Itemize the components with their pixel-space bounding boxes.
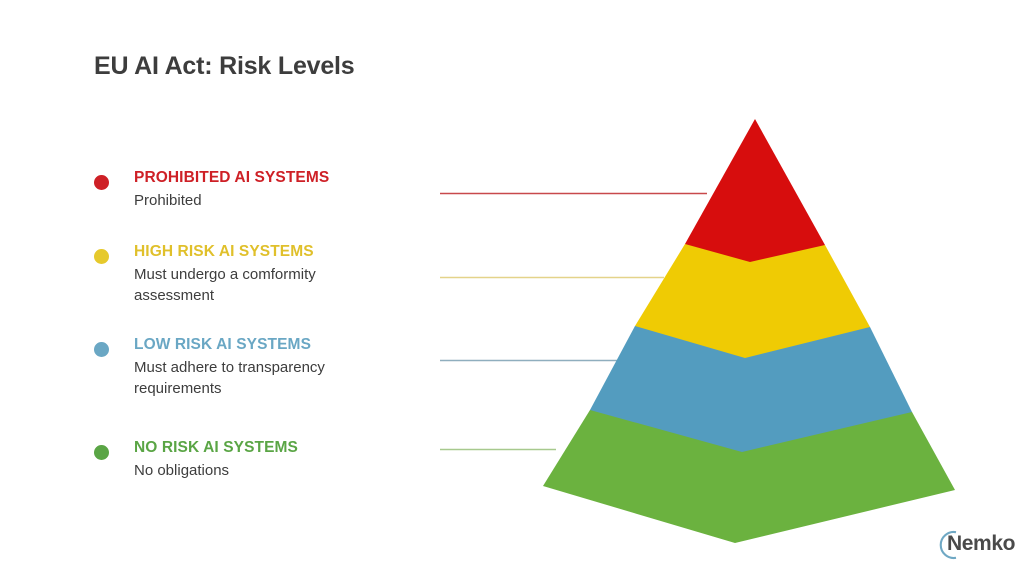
legend-title-prohibited: PROHIBITED AI SYSTEMS: [134, 168, 424, 187]
legend-text-low-risk: LOW RISK AI SYSTEMS Must adhere to trans…: [134, 335, 424, 399]
legend-desc-low-risk: Must adhere to transparency requirements: [134, 358, 396, 399]
slide-canvas: EU AI Act: Risk Levels PROHIBITED AI SYS…: [0, 0, 1024, 577]
legend-item-no-risk[interactable]: NO RISK AI SYSTEMS No obligations: [94, 438, 424, 482]
legend-item-high-risk[interactable]: HIGH RISK AI SYSTEMS Must undergo a comf…: [94, 242, 424, 306]
legend-desc-no-risk: No obligations: [134, 461, 404, 481]
legend-title-no-risk: NO RISK AI SYSTEMS: [134, 438, 424, 457]
legend-text-no-risk: NO RISK AI SYSTEMS No obligations: [134, 438, 424, 482]
legend-desc-prohibited: Prohibited: [134, 191, 404, 211]
legend-dot-icon-prohibited: [94, 175, 109, 190]
legend-dot-icon-low-risk: [94, 342, 109, 357]
legend-dot-icon-high-risk: [94, 249, 109, 264]
legend-text-high-risk: HIGH RISK AI SYSTEMS Must undergo a comf…: [134, 242, 424, 306]
legend-dot-icon-no-risk: [94, 445, 109, 460]
legend-item-low-risk[interactable]: LOW RISK AI SYSTEMS Must adhere to trans…: [94, 335, 424, 399]
nemko-logo[interactable]: Nemko: [929, 528, 1017, 562]
legend-desc-high-risk: Must undergo a comformity assessment: [134, 265, 384, 306]
logo-wordmark: Nemko: [947, 532, 1015, 556]
legend-text-prohibited: PROHIBITED AI SYSTEMS Prohibited: [134, 168, 424, 212]
legend-title-high-risk: HIGH RISK AI SYSTEMS: [134, 242, 424, 261]
legend-item-prohibited[interactable]: PROHIBITED AI SYSTEMS Prohibited: [94, 168, 424, 212]
pyramid-band-prohibited: [685, 119, 825, 262]
legend-title-low-risk: LOW RISK AI SYSTEMS: [134, 335, 424, 354]
